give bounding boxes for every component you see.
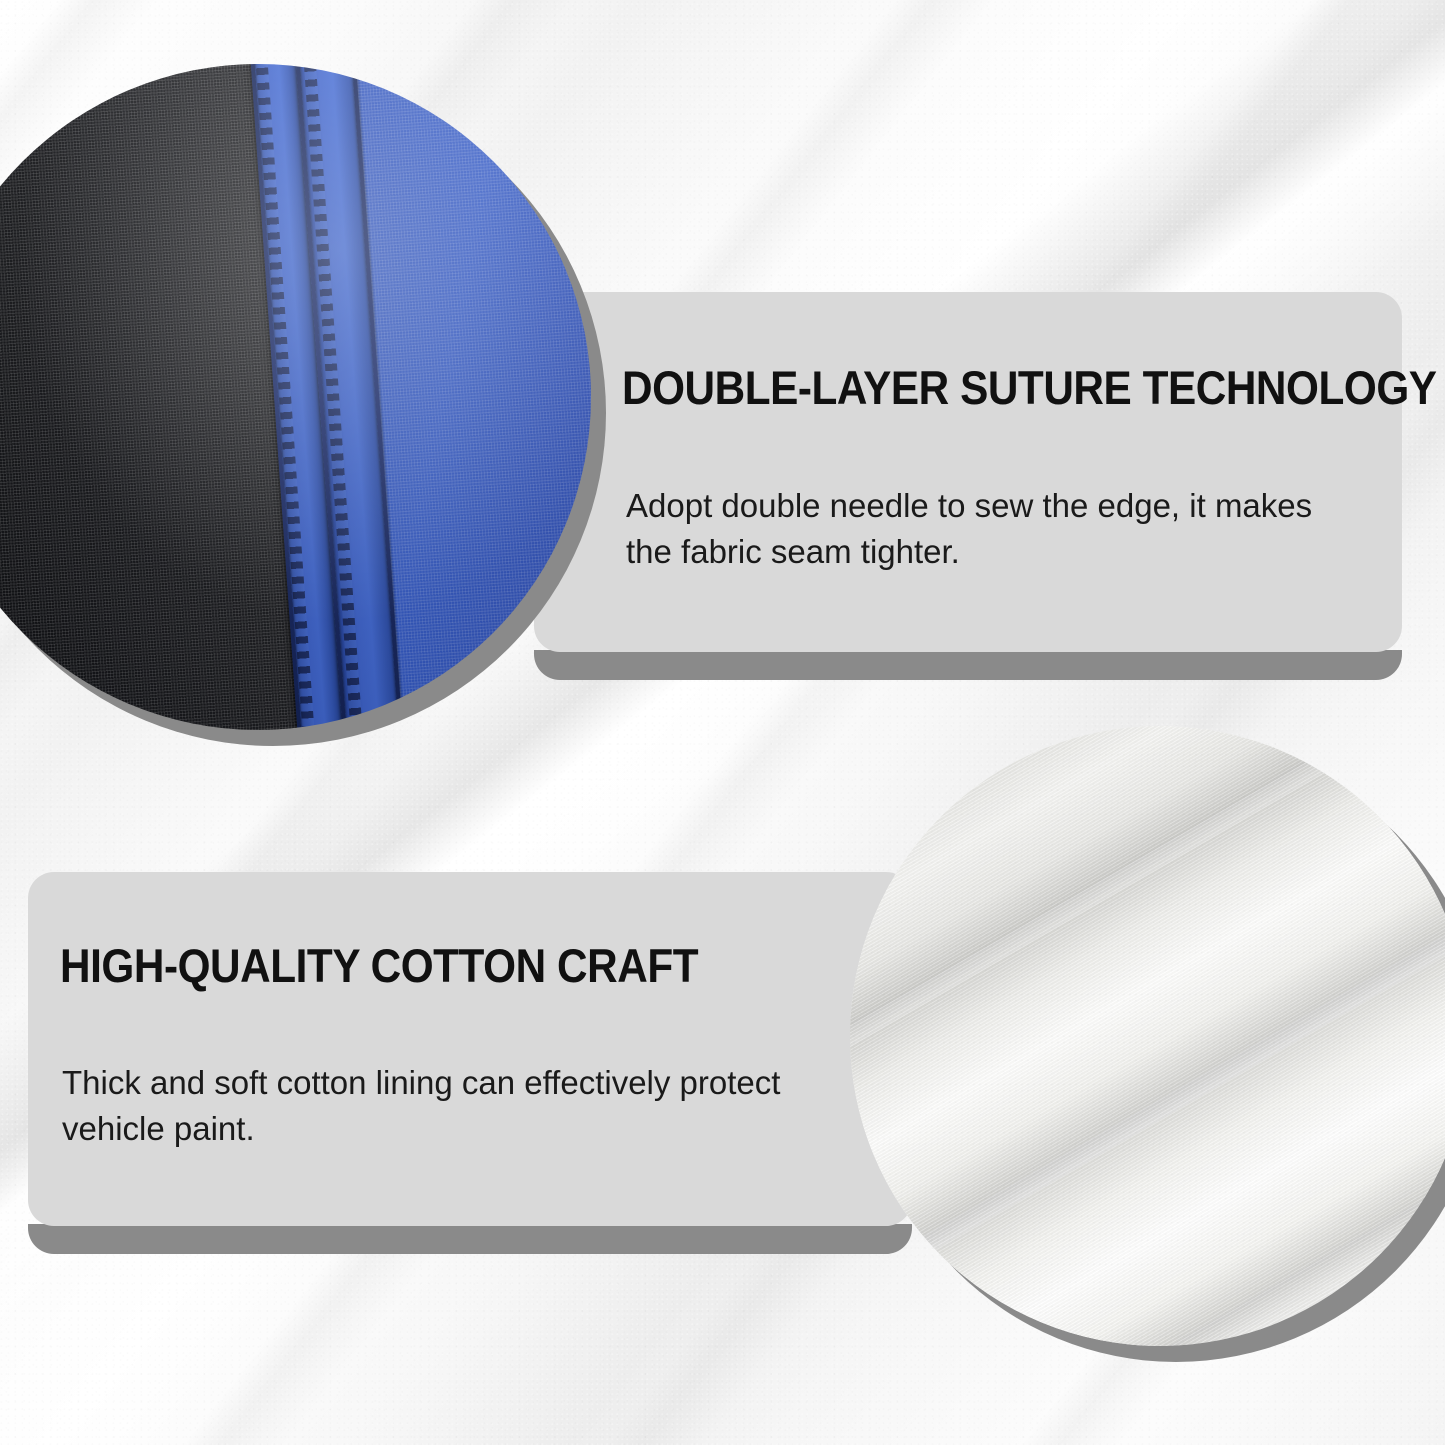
feature-title-cotton: HIGH-QUALITY COTTON CRAFT [60, 938, 698, 993]
feature-body-cotton: Thick and soft cotton lining can effecti… [62, 1060, 832, 1151]
cotton-lining-closeup-photo [850, 726, 1445, 1346]
cotton-panel-shadow-bar [28, 1224, 912, 1254]
feature-title-suture: DOUBLE-LAYER SUTURE TECHNOLOGY [622, 360, 1437, 415]
feature-panel-suture [534, 292, 1402, 652]
product-feature-infographic: DOUBLE-LAYER SUTURE TECHNOLOGY Adopt dou… [0, 0, 1445, 1445]
feature-panel-cotton [28, 872, 912, 1226]
stitched-seam-artwork [0, 64, 591, 730]
suture-panel-shadow-bar [534, 650, 1402, 680]
feature-body-suture: Adopt double needle to sew the edge, it … [626, 483, 1356, 574]
cotton-lining-artwork [850, 726, 1445, 1346]
stitched-seam-closeup-photo [0, 64, 591, 730]
